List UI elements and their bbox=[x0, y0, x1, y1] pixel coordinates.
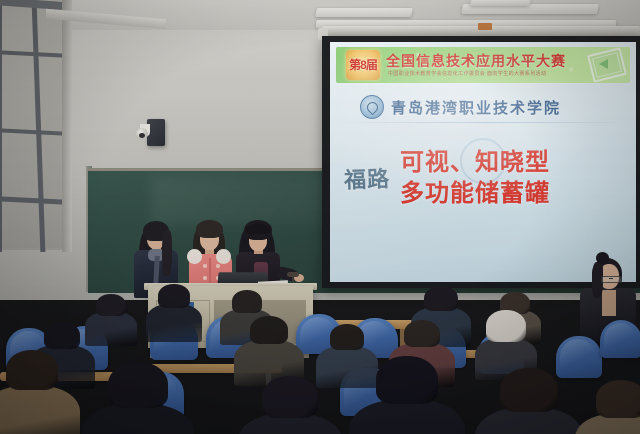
audience-person-head bbox=[424, 286, 458, 311]
audience-person-head bbox=[108, 362, 168, 408]
edition-badge: 第8届 bbox=[346, 50, 380, 80]
audience-person-head bbox=[486, 310, 526, 342]
screen-housing-label bbox=[478, 23, 492, 30]
slide-title-line-1: 可视、知晓型 bbox=[400, 150, 550, 175]
audience-person-head bbox=[6, 350, 58, 390]
audience-person-head bbox=[44, 322, 80, 349]
hair-top bbox=[196, 220, 223, 238]
brand-mark: 福路 bbox=[343, 161, 390, 195]
projection-screen: 第8届 全国信息技术应用水平大赛 中国职业技术教育学会信息化工作委员会 面向学生… bbox=[330, 42, 636, 282]
audience-person-head bbox=[596, 380, 640, 418]
edition-badge-label: 第8届 bbox=[349, 59, 377, 71]
lecture-hall-photo: 第8届 全国信息技术应用水平大赛 中国职业技术教育学会信息化工作委员会 面向学生… bbox=[0, 0, 640, 434]
audience-person-head bbox=[232, 290, 262, 313]
slide-banner: 第8届 全国信息技术应用水平大赛 中国职业技术教育学会信息化工作委员会 面向学生… bbox=[336, 47, 630, 83]
audience-person-shoulders bbox=[349, 400, 465, 434]
chair-highlight bbox=[560, 339, 596, 373]
microphone-icon bbox=[287, 272, 299, 277]
chair-highlight bbox=[604, 323, 636, 353]
arrow-icon bbox=[599, 59, 608, 69]
eyeglasses-bridge bbox=[609, 278, 613, 279]
school-identity-row: 青岛港湾职业技术学院 bbox=[360, 92, 626, 122]
coat-button bbox=[216, 264, 220, 268]
ceiling-light-fixture bbox=[469, 0, 530, 6]
window-frame bbox=[0, 2, 64, 248]
audience-person-head bbox=[376, 356, 438, 404]
hair-fringe bbox=[246, 224, 270, 234]
slide-title-block: 福路 可视、知晓型 多功能储蓄罐 bbox=[344, 150, 626, 206]
coat-button bbox=[203, 264, 207, 268]
window-jamb bbox=[62, 0, 72, 252]
window-wall-section bbox=[0, 0, 66, 250]
slide-title-lines: 可视、知晓型 多功能储蓄罐 bbox=[400, 150, 550, 206]
camera-lens bbox=[139, 133, 145, 138]
hair-strand bbox=[162, 230, 172, 276]
competition-title: 全国信息技术应用水平大赛 bbox=[386, 51, 566, 71]
audience-person-shoulders bbox=[316, 346, 378, 388]
ceiling-light-fixture bbox=[315, 8, 413, 17]
audience-person-head bbox=[404, 320, 440, 347]
window-mullion bbox=[0, 2, 2, 252]
audience-person-head bbox=[262, 376, 318, 418]
competition-subtitle: 中国职业技术教育学会信息化工作委员会 面向学生的大赛系列活动 bbox=[388, 70, 546, 77]
divider bbox=[340, 122, 626, 123]
slide-title-line-2: 多功能储蓄罐 bbox=[400, 181, 550, 206]
audience-person-head bbox=[250, 316, 288, 344]
audience-person-shoulders bbox=[85, 312, 137, 346]
audience-area bbox=[0, 280, 640, 434]
audience-person-head bbox=[96, 294, 126, 316]
fur-collar bbox=[216, 249, 231, 264]
audience-person-head bbox=[500, 368, 558, 412]
fur-collar bbox=[187, 249, 202, 264]
school-emblem-icon bbox=[360, 95, 384, 119]
audience-person-shoulders bbox=[146, 304, 202, 342]
hair-bun bbox=[596, 252, 609, 264]
audience-person-shoulders bbox=[0, 386, 80, 434]
audience-person-head bbox=[158, 284, 190, 308]
school-name: 青岛港湾职业技术学院 bbox=[391, 97, 561, 118]
audience-person-head bbox=[330, 324, 364, 350]
